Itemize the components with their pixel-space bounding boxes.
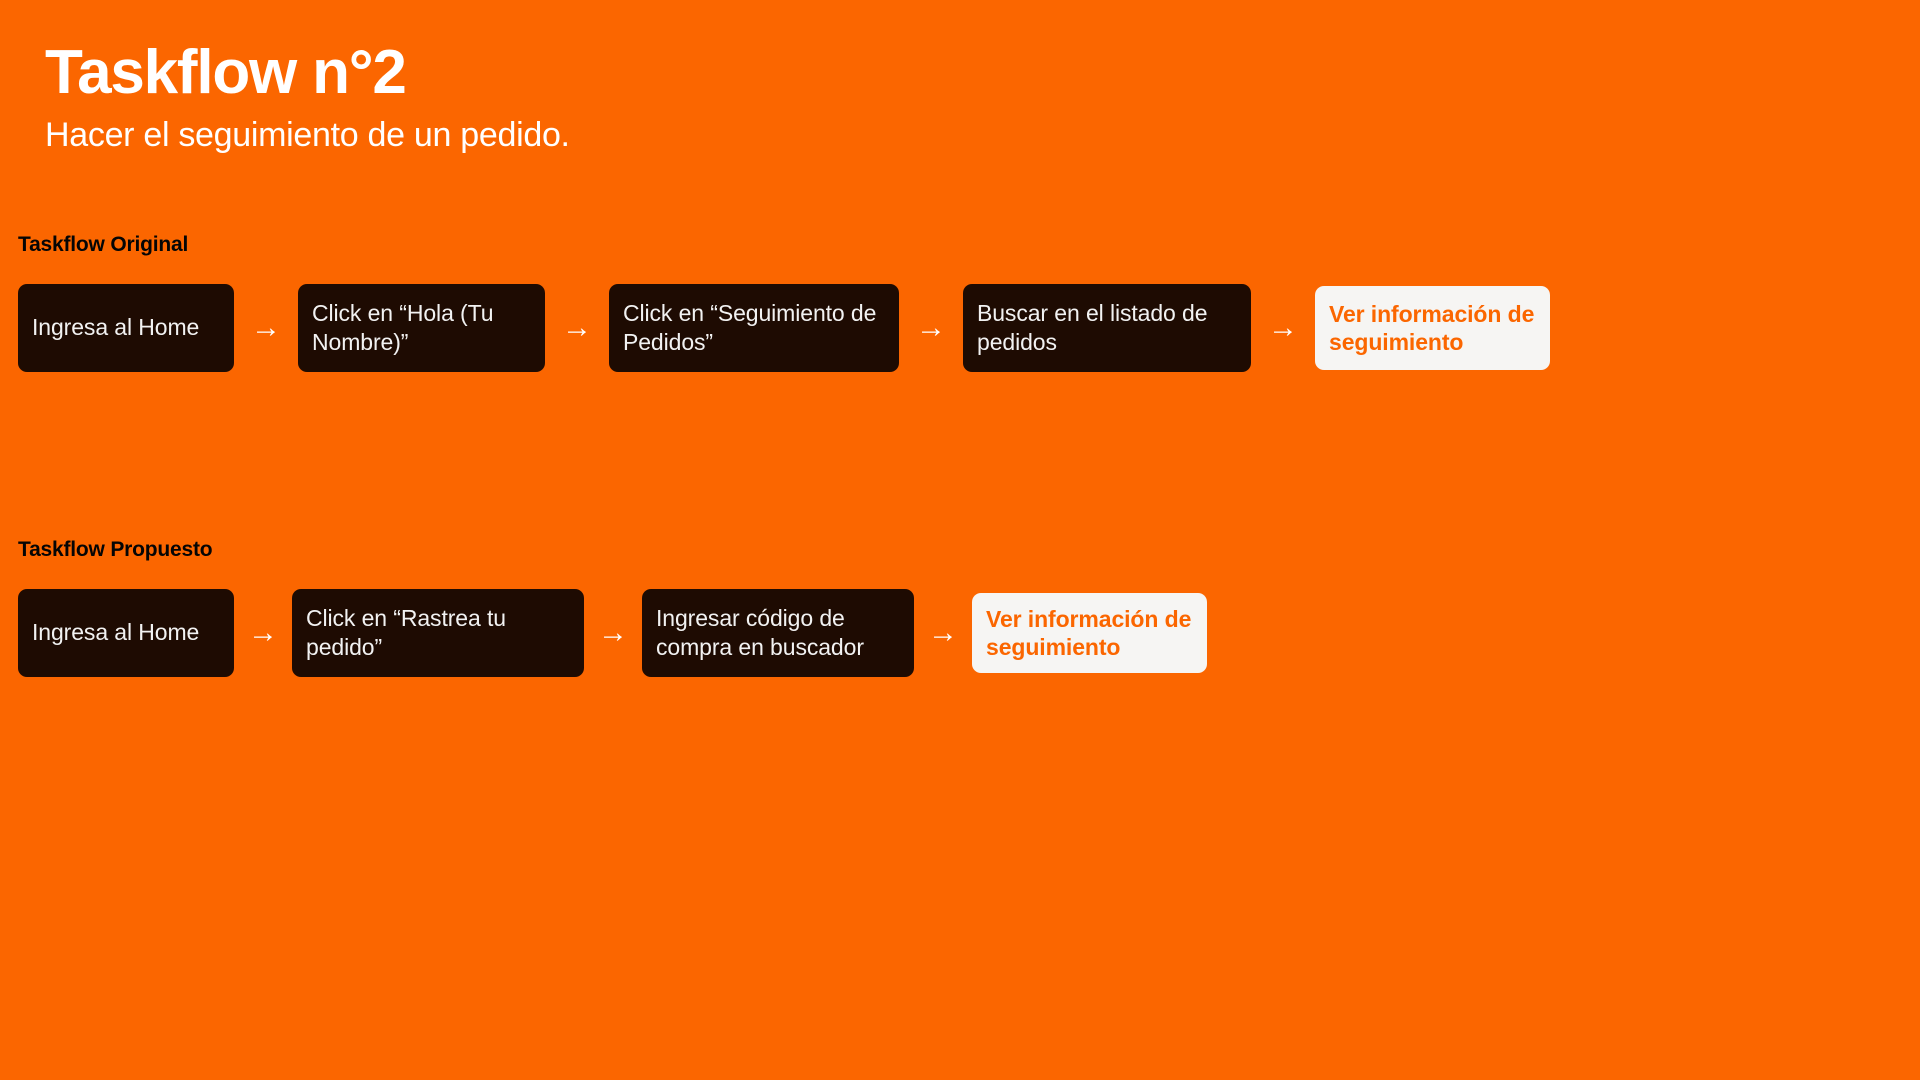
flow-step-original-5-outcome[interactable]: Ver información de seguimiento (1315, 286, 1550, 370)
flow-step-label: Click en “Seguimiento de Pedidos” (623, 299, 885, 358)
flow-step-label: Ingresar código de compra en buscador (656, 604, 900, 663)
flow-step-propuesto-1[interactable]: Ingresa al Home (18, 589, 234, 677)
section-taskflow-original: Taskflow Original Ingresa al Home → Clic… (18, 233, 1550, 372)
header: Taskflow n°2 Hacer el seguimiento de un … (45, 40, 570, 156)
arrow-right-icon: → (1251, 313, 1315, 343)
flow-step-original-4[interactable]: Buscar en el listado de pedidos (963, 284, 1251, 372)
arrow-right-icon: → (234, 618, 292, 648)
flow-step-original-2[interactable]: Click en “Hola (Tu Nombre)” (298, 284, 545, 372)
flow-step-original-1[interactable]: Ingresa al Home (18, 284, 234, 372)
flow-step-label: Ingresa al Home (32, 313, 199, 342)
page-title: Taskflow n°2 (45, 40, 570, 105)
flow-step-label: Ingresa al Home (32, 618, 199, 647)
page-subtitle: Hacer el seguimiento de un pedido. (45, 115, 570, 156)
flow-step-label: Buscar en el listado de pedidos (977, 299, 1237, 358)
flow-step-propuesto-2[interactable]: Click en “Rastrea tu pedido” (292, 589, 584, 677)
flow-propuesto: Ingresa al Home → Click en “Rastrea tu p… (18, 589, 1207, 677)
taskflow-slide: Taskflow n°2 Hacer el seguimiento de un … (0, 0, 1920, 1080)
flow-step-label: Ver información de seguimiento (1329, 300, 1536, 356)
section-title-original: Taskflow Original (18, 233, 1550, 257)
section-title-propuesto: Taskflow Propuesto (18, 538, 1207, 562)
arrow-right-icon: → (914, 618, 972, 648)
flow-original: Ingresa al Home → Click en “Hola (Tu Nom… (18, 284, 1550, 372)
arrow-right-icon: → (234, 313, 298, 343)
flow-step-label: Click en “Rastrea tu pedido” (306, 604, 570, 663)
flow-step-label: Click en “Hola (Tu Nombre)” (312, 299, 531, 358)
flow-step-label: Ver información de seguimiento (986, 605, 1193, 661)
arrow-right-icon: → (584, 618, 642, 648)
flow-step-original-3[interactable]: Click en “Seguimiento de Pedidos” (609, 284, 899, 372)
flow-step-propuesto-4-outcome[interactable]: Ver información de seguimiento (972, 593, 1207, 673)
arrow-right-icon: → (899, 313, 963, 343)
arrow-right-icon: → (545, 313, 609, 343)
flow-step-propuesto-3[interactable]: Ingresar código de compra en buscador (642, 589, 914, 677)
section-taskflow-propuesto: Taskflow Propuesto Ingresa al Home → Cli… (18, 538, 1207, 677)
